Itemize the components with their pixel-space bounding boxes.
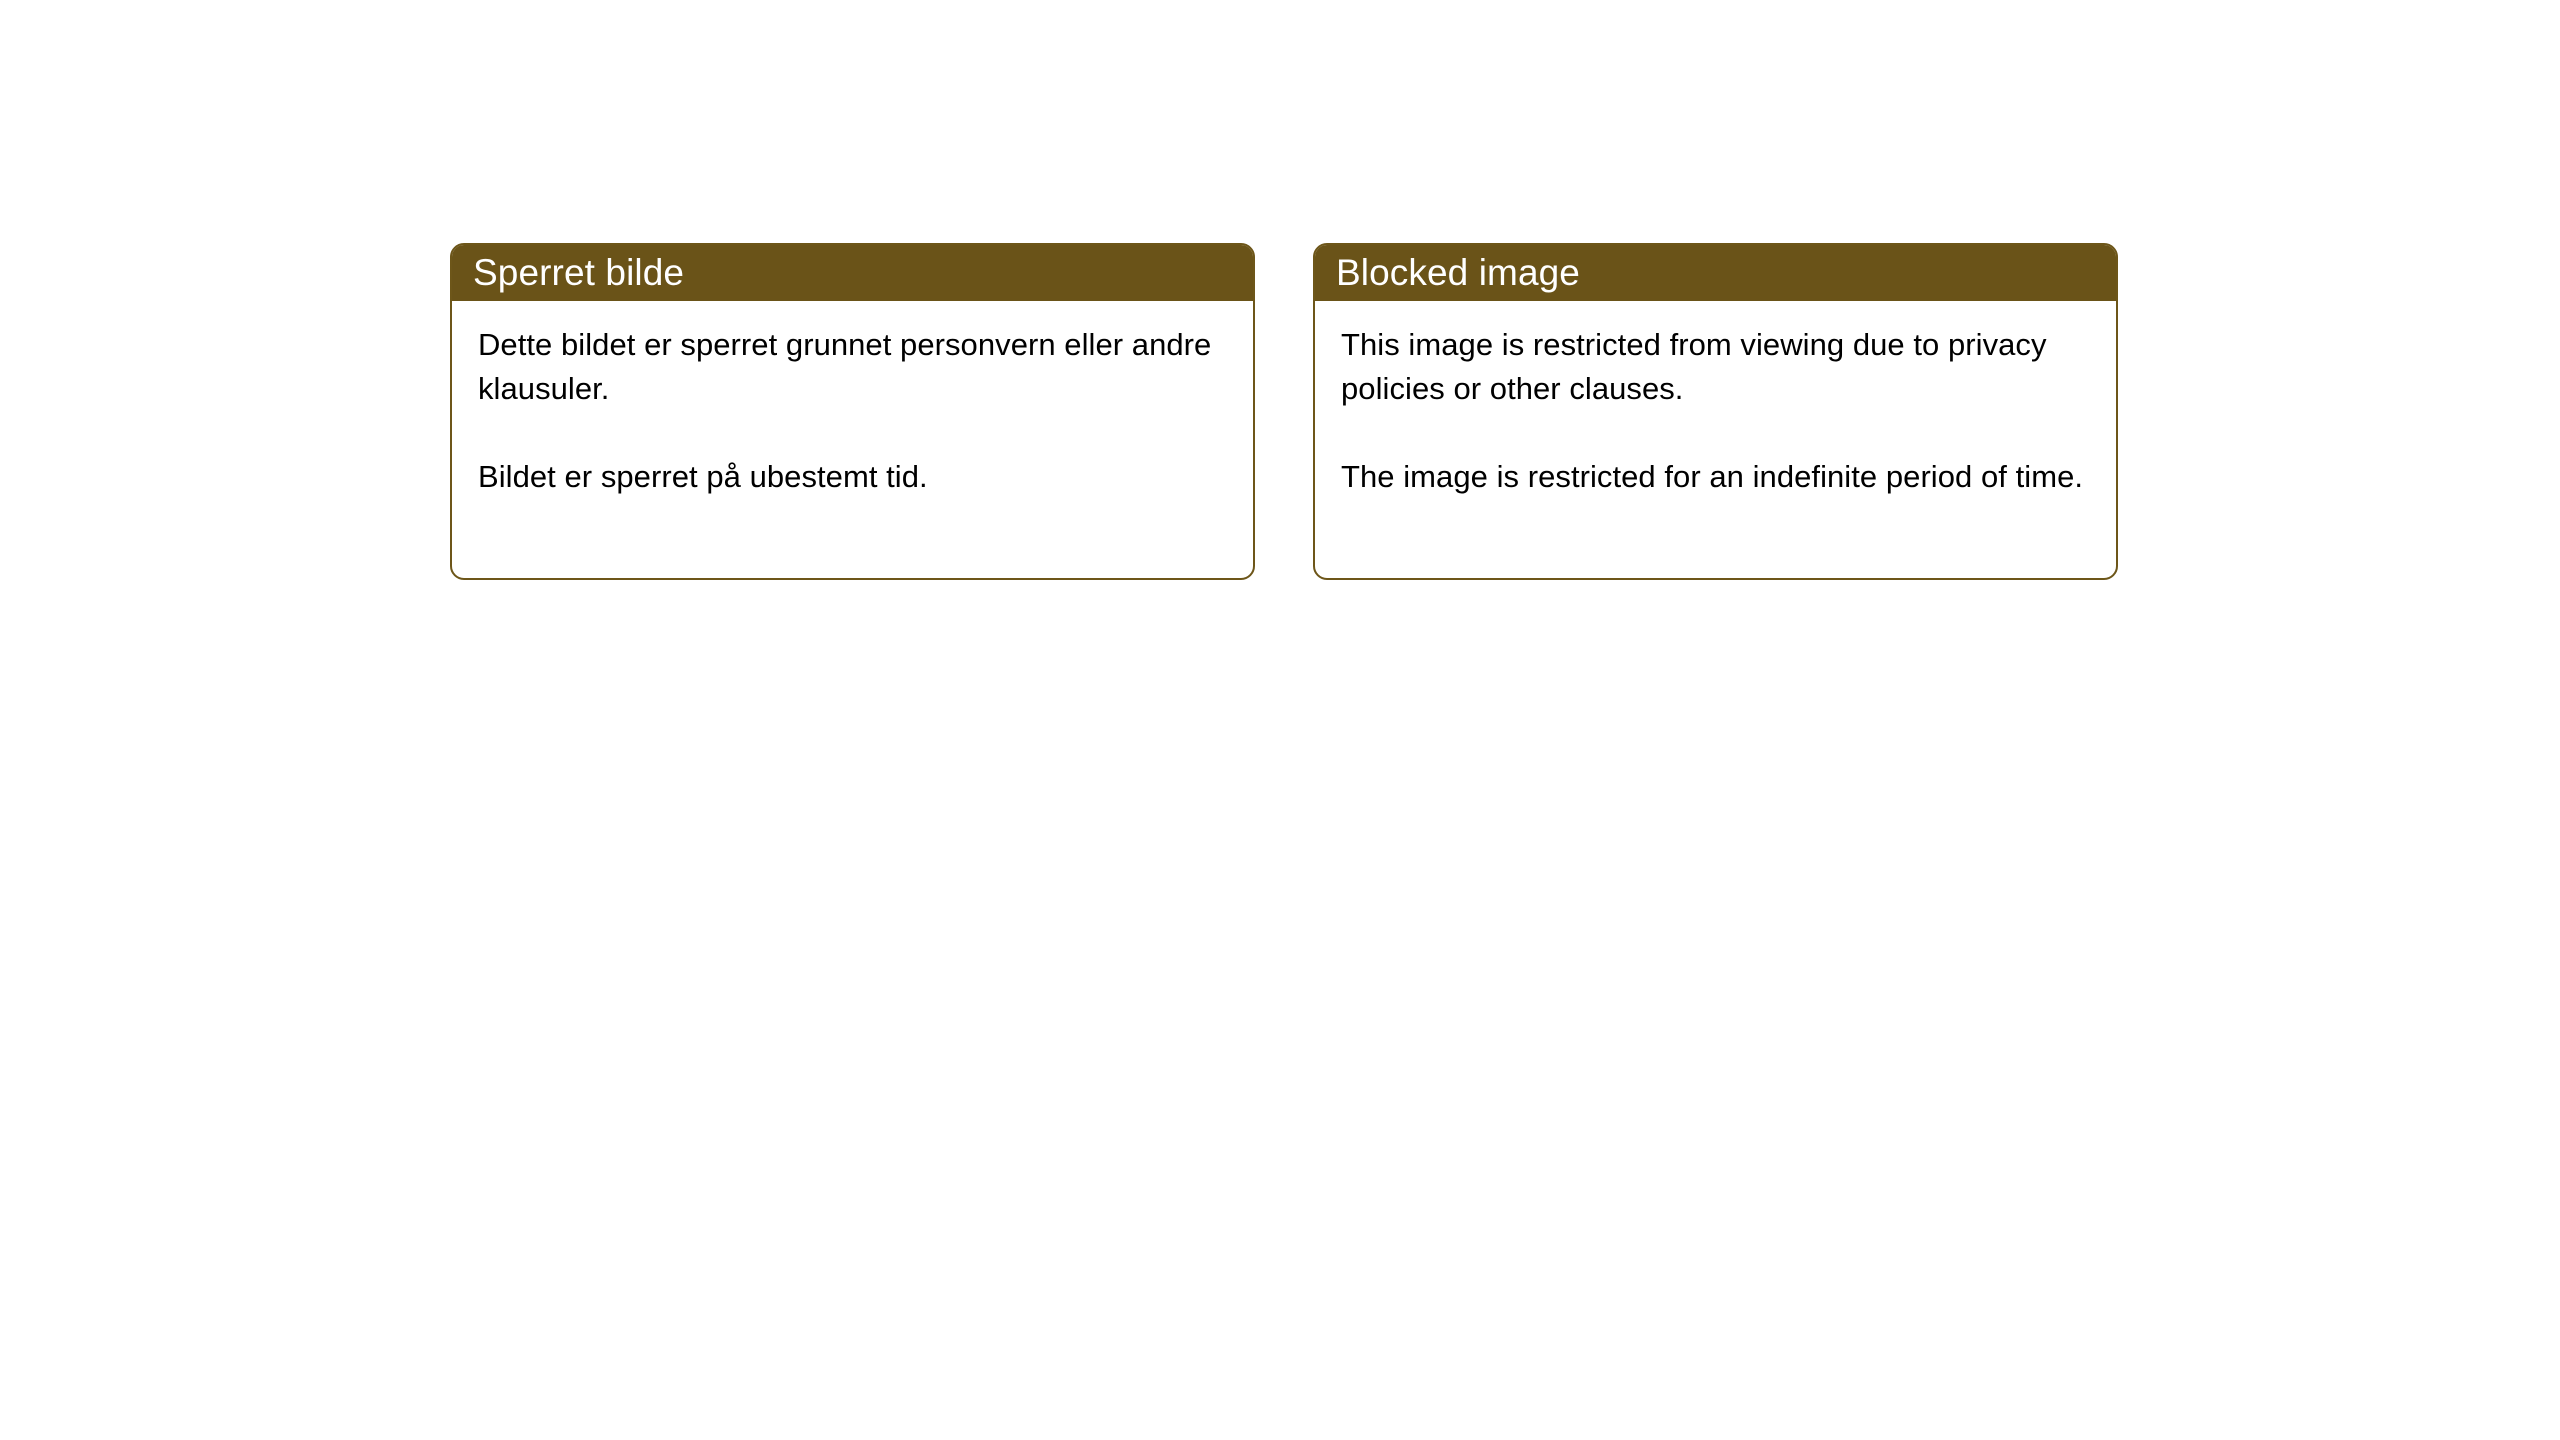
- card-header-en: Blocked image: [1313, 243, 2118, 301]
- card-body-no: Dette bildet er sperret grunnet personve…: [452, 301, 1253, 499]
- card-title-en: Blocked image: [1336, 254, 1580, 291]
- blocked-image-notice-card-no: Sperret bilde Dette bildet er sperret gr…: [450, 243, 1255, 580]
- blocked-image-notice-card-en: Blocked image This image is restricted f…: [1313, 243, 2118, 580]
- card-paragraph-secondary-no: Bildet er sperret på ubestemt tid.: [478, 455, 1227, 499]
- paragraph-spacer-no: [478, 411, 1227, 455]
- card-header-no: Sperret bilde: [450, 243, 1255, 301]
- card-paragraph-primary-en: This image is restricted from viewing du…: [1341, 323, 2090, 411]
- card-body-en: This image is restricted from viewing du…: [1315, 301, 2116, 499]
- page-root: Sperret bilde Dette bildet er sperret gr…: [0, 0, 2560, 1440]
- card-title-no: Sperret bilde: [473, 254, 684, 291]
- card-paragraph-secondary-en: The image is restricted for an indefinit…: [1341, 455, 2090, 499]
- paragraph-spacer-en: [1341, 411, 2090, 455]
- card-paragraph-primary-no: Dette bildet er sperret grunnet personve…: [478, 323, 1227, 411]
